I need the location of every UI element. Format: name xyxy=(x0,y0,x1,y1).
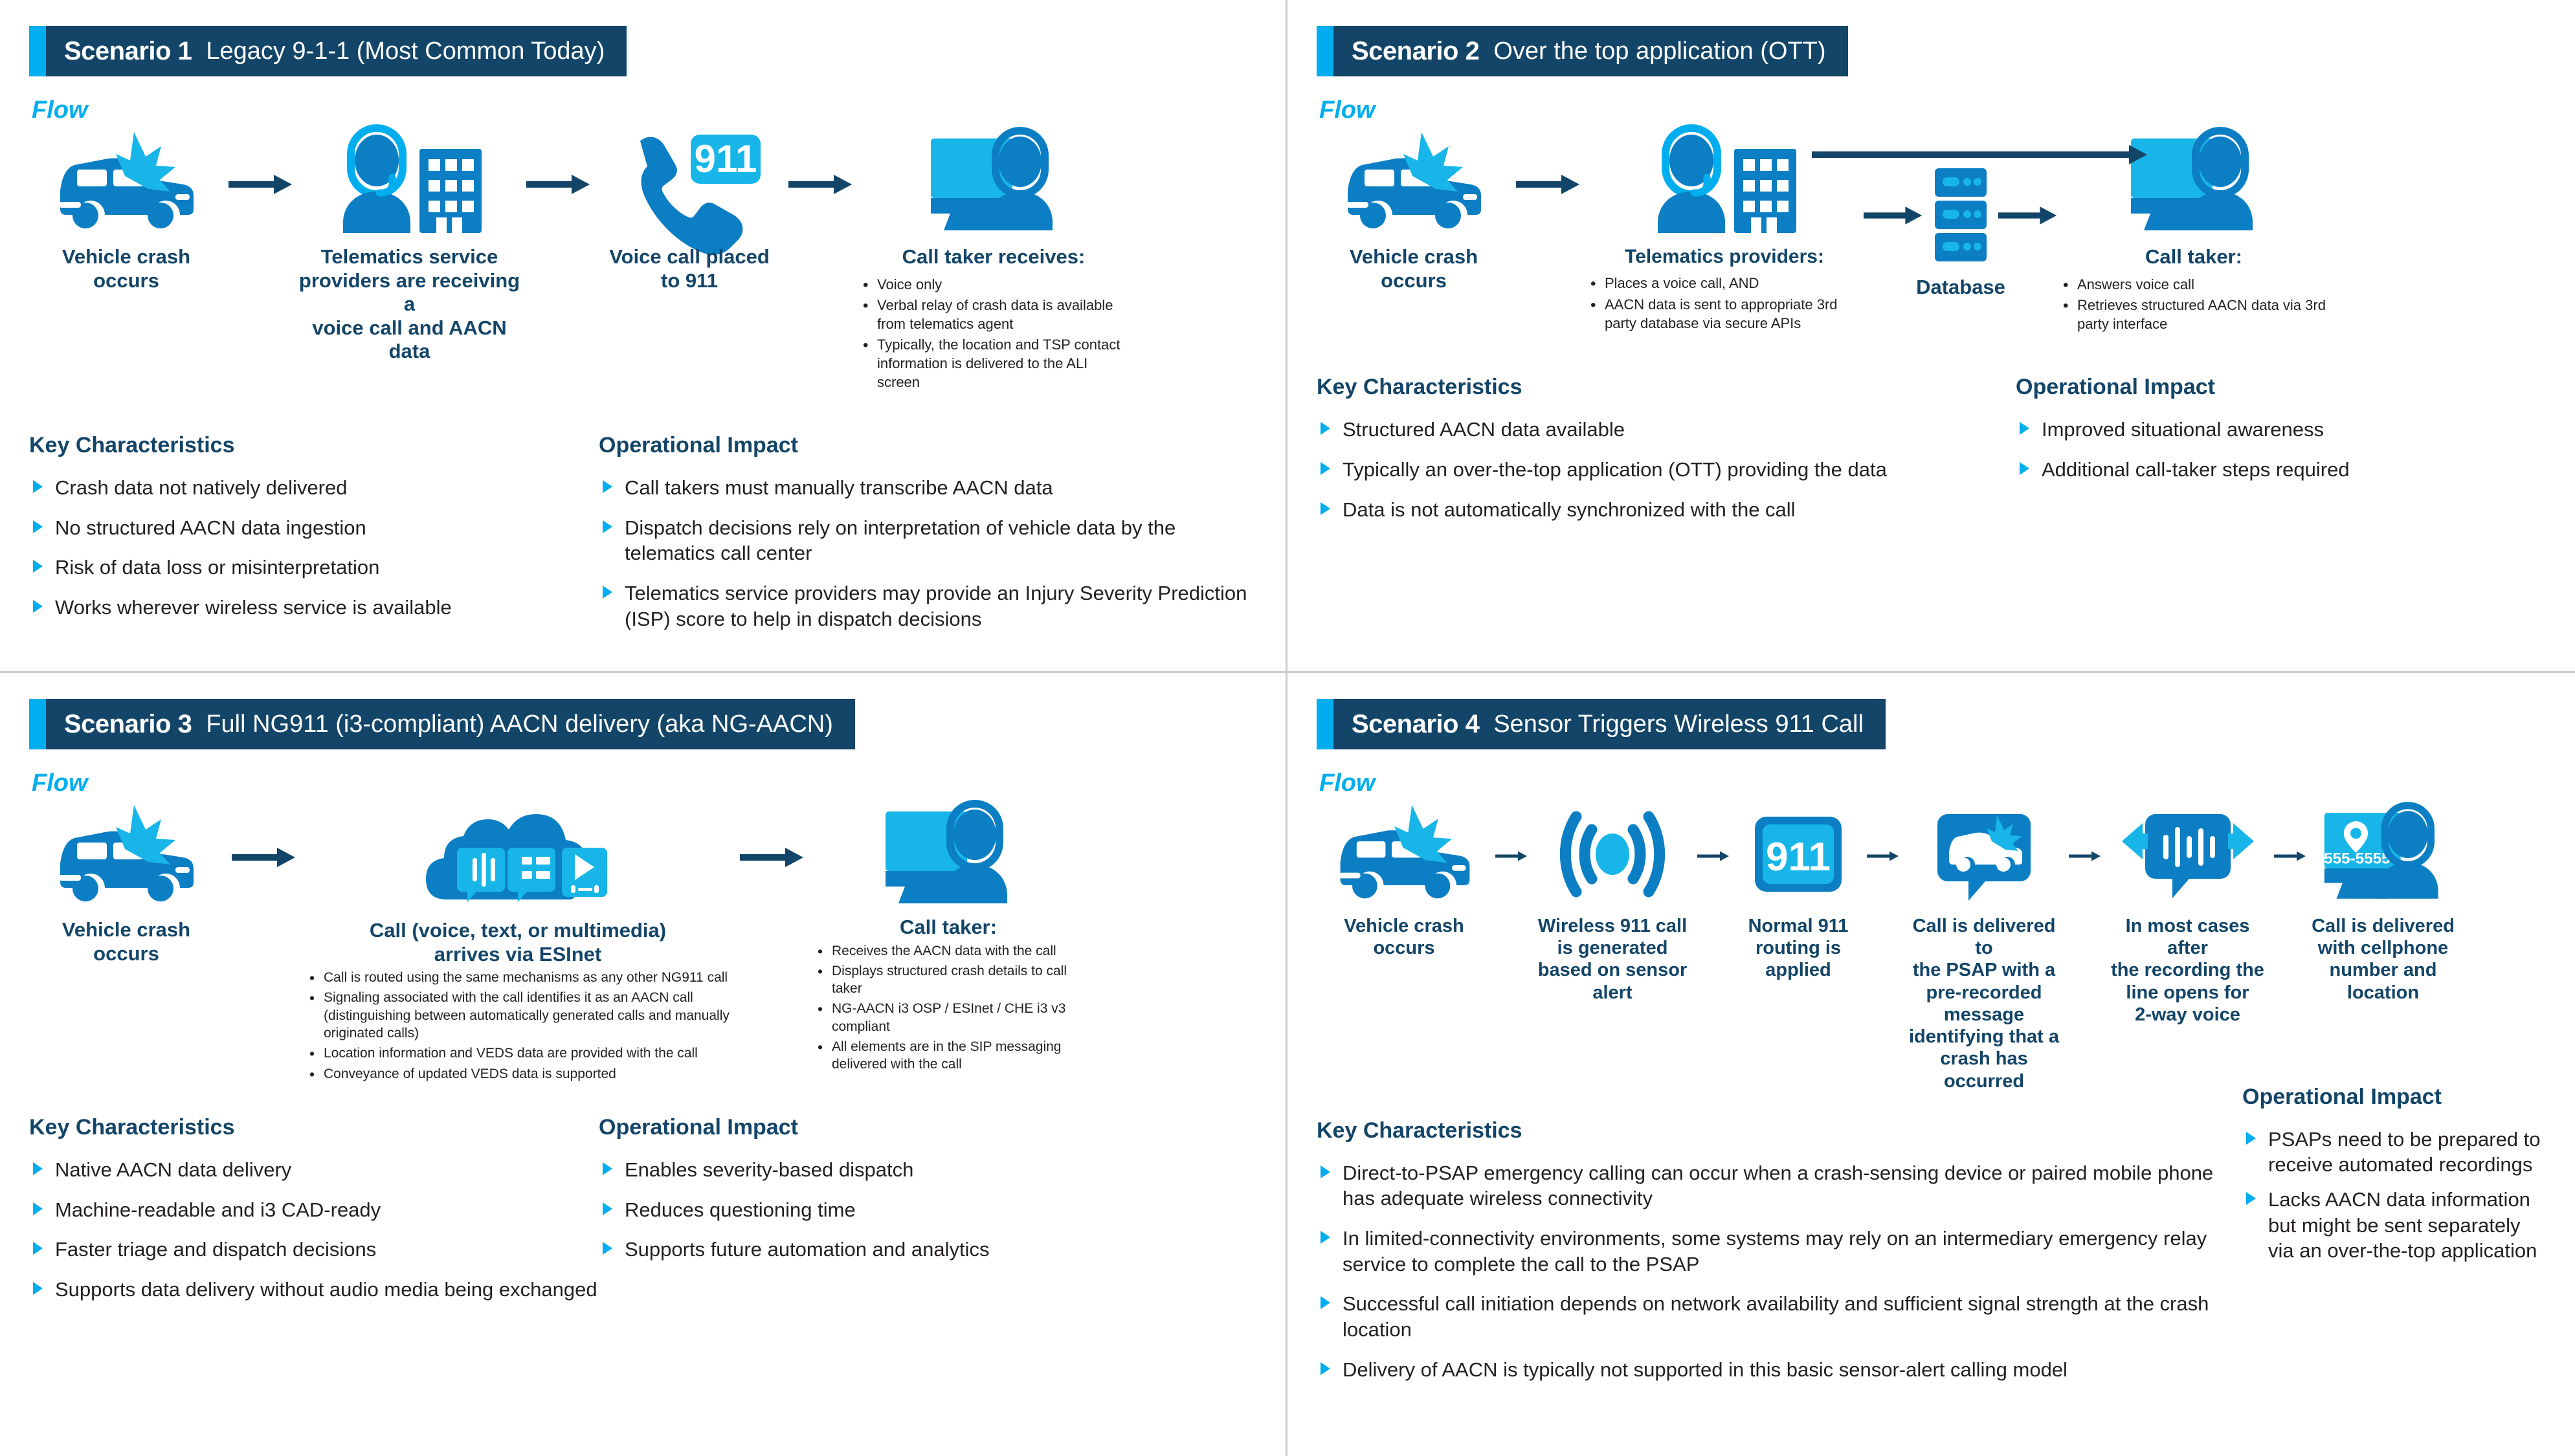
list-item: AACN data is sent to appropriate 3rd par… xyxy=(1585,296,1864,333)
operational-impact-block: Operational Impact Improved situational … xyxy=(2016,375,2546,536)
car-crash-icon xyxy=(1336,129,1491,236)
svg-text:911: 911 xyxy=(1766,835,1831,879)
flow-step-bullets: Places a voice call, AND AACN data is se… xyxy=(1585,274,1864,335)
list-item: Faster triage and dispatch decisions xyxy=(29,1237,599,1263)
accent-bar xyxy=(1317,699,1333,749)
telematics-agent-building-icon xyxy=(1644,129,1805,236)
flow-step-caption: Vehicle crashoccurs xyxy=(1344,915,1464,959)
scenario-4-panel: Scenario 4 Sensor Triggers Wireless 911 … xyxy=(1287,673,2575,1456)
list-item: Answers voice call xyxy=(2058,276,2330,294)
911-badge-icon: 911 xyxy=(1747,802,1849,906)
accent-bar xyxy=(29,26,46,76)
flow-step-caption: Database xyxy=(1916,276,2005,300)
list-item: Typically an over-the-top application (O… xyxy=(1317,457,2016,483)
scenario-2-header: Scenario 2 Over the top application (OTT… xyxy=(1317,26,1848,76)
operational-impact-list: Call takers must manually transcribe AAC… xyxy=(599,475,1256,632)
list-item: Conveyance of updated VEDS data is suppo… xyxy=(304,1065,731,1083)
scenario-2-flow: Vehicle crashoccurs xyxy=(1317,129,2546,336)
operational-impact-heading: Operational Impact xyxy=(599,1115,1256,1140)
flow-step-caption: Call is deliveredwith cellphonenumber an… xyxy=(2312,915,2455,1004)
key-characteristics-block: Key Characteristics Native AACN data del… xyxy=(29,1115,599,1317)
scenario-3-flow: Vehicle crashoccurs xyxy=(29,802,1256,1085)
list-item: In limited-connectivity environments, so… xyxy=(1317,1226,2242,1277)
flow-step-vehicle-crash: Vehicle crashoccurs xyxy=(1317,129,1511,292)
operational-impact-block: Operational Impact PSAPs need to be prep… xyxy=(2242,1085,2546,1397)
screen-phone-number: 555-5555 xyxy=(2324,850,2391,867)
flow-step-prerecorded-message: Call is delivered tothe PSAP with apre-r… xyxy=(1903,802,2065,1092)
two-way-voice-icon xyxy=(2118,802,2257,906)
operational-impact-heading: Operational Impact xyxy=(2242,1085,2546,1110)
operational-impact-block: Operational Impact Call takers must manu… xyxy=(599,433,1256,646)
flow-arrow-bypass xyxy=(1812,144,2148,166)
scenario-4-details: Key Characteristics Direct-to-PSAP emerg… xyxy=(1317,1118,2546,1397)
scenario-number: Scenario 4 xyxy=(1352,710,1479,739)
flow-arrow xyxy=(521,129,596,239)
flow-step-bullets: Answers voice call Retrieves structured … xyxy=(2058,276,2330,336)
key-characteristics-heading: Key Characteristics xyxy=(29,1115,599,1140)
scenario-4-flow: Vehicle crashoccurs xyxy=(1317,802,2546,1092)
flow-label: Flow xyxy=(1319,769,2546,797)
flow-step-caption: Voice call placedto 911 xyxy=(609,245,770,292)
list-item: Supports data delivery without audio med… xyxy=(29,1277,599,1303)
key-characteristics-block: Key Characteristics Crash data not nativ… xyxy=(29,433,599,646)
flow-step-bullets: Receives the AACN data with the call Dis… xyxy=(812,942,1084,1076)
flow-arrow xyxy=(2270,802,2310,909)
operational-impact-list: Enables severity-based dispatch Reduces … xyxy=(599,1157,1256,1263)
list-item: Machine-readable and i3 CAD-ready xyxy=(29,1197,599,1223)
list-item: Typically, the location and TSP contact … xyxy=(858,336,1130,392)
list-item: Data is not automatically synchronized w… xyxy=(1317,497,2016,523)
operational-impact-list: PSAPs need to be prepared to receive aut… xyxy=(2242,1127,2546,1264)
flow-step-caption: Call taker: xyxy=(900,916,997,940)
list-item: NG-AACN i3 OSP / ESInet / CHE i3 v3 comp… xyxy=(812,1000,1084,1035)
list-item: Works wherever wireless service is avail… xyxy=(29,595,599,621)
phone-911-icon: 911 xyxy=(612,129,767,236)
flow-step-caption: Telematics serviceproviders are receivin… xyxy=(298,245,521,364)
telematics-agent-building-icon xyxy=(329,129,491,236)
flow-step-call-taker: Call taker: Receives the AACN data with … xyxy=(812,802,1084,1076)
key-characteristics-list: Crash data not natively delivered No str… xyxy=(29,475,599,621)
list-item: Supports future automation and analytics xyxy=(599,1237,1256,1263)
flow-step-vehicle-crash: Vehicle crashoccurs xyxy=(29,129,223,292)
flow-arrow xyxy=(1693,802,1733,909)
flow-step-caption: Wireless 911 callis generatedbased on se… xyxy=(1538,915,1687,1004)
flow-step-vehicle-crash: Vehicle crashoccurs xyxy=(1317,802,1491,959)
car-crash-icon xyxy=(49,129,204,236)
list-item: Reduces questioning time xyxy=(599,1197,1256,1223)
list-item: No structured AACN data ingestion xyxy=(29,515,599,541)
flow-arrow xyxy=(1511,129,1585,239)
flow-step-database: Database xyxy=(1864,129,2058,300)
accent-bar xyxy=(1317,26,1333,76)
flow-label: Flow xyxy=(32,769,1256,797)
flow-step-vehicle-crash: Vehicle crashoccurs xyxy=(29,802,223,965)
flow-step-caption: In most cases afterthe recording theline… xyxy=(2105,915,2270,1026)
svg-text:911: 911 xyxy=(695,137,757,181)
flow-step-two-way-voice: In most cases afterthe recording theline… xyxy=(2105,802,2270,1026)
list-item: Retrieves structured AACN data via 3rd p… xyxy=(2058,296,2330,333)
list-item: Telematics service providers may provide… xyxy=(599,580,1256,632)
wireless-signal-icon xyxy=(1561,802,1664,906)
operational-impact-list: Improved situational awareness Additiona… xyxy=(2016,417,2546,482)
list-item: Call takers must manually transcribe AAC… xyxy=(599,475,1256,501)
list-item: PSAPs need to be prepared to receive aut… xyxy=(2242,1127,2546,1178)
cloud-multimedia-icon xyxy=(421,802,615,912)
flow-step-caption: Vehicle crashoccurs xyxy=(1350,245,1478,292)
operational-impact-heading: Operational Impact xyxy=(599,433,1256,458)
operational-impact-heading: Operational Impact xyxy=(2016,375,2546,400)
flow-step-bullets: Voice only Verbal relay of crash data is… xyxy=(858,276,1130,395)
flow-step-caption: Normal 911routing isapplied xyxy=(1748,915,1849,982)
list-item: Direct-to-PSAP emergency calling can occ… xyxy=(1317,1160,2242,1211)
scenario-2-details: Key Characteristics Structured AACN data… xyxy=(1317,375,2546,536)
flow-step-voice-call: 911 Voice call placedto 911 xyxy=(596,129,783,292)
list-item: Crash data not natively delivered xyxy=(29,475,599,501)
flow-arrow xyxy=(731,802,812,912)
flow-label: Flow xyxy=(32,96,1256,124)
scenario-number: Scenario 2 xyxy=(1352,37,1479,66)
flow-step-caption: Call taker: xyxy=(2145,245,2242,269)
flow-step-caption: Call is delivered tothe PSAP with apre-r… xyxy=(1903,915,2065,1092)
scenario-title: Legacy 9-1-1 (Most Common Today) xyxy=(206,38,605,65)
key-characteristics-heading: Key Characteristics xyxy=(1317,375,2016,400)
flow-arrow xyxy=(223,129,298,239)
list-item: Voice only xyxy=(858,276,1130,294)
key-characteristics-list: Native AACN data delivery Machine-readab… xyxy=(29,1157,599,1303)
scenario-title: Full NG911 (i3-compliant) AACN delivery … xyxy=(206,711,833,738)
scenario-2-panel: Scenario 2 Over the top application (OTT… xyxy=(1287,0,2575,673)
list-item: Signaling associated with the call ident… xyxy=(304,989,731,1042)
scenario-1-panel: Scenario 1 Legacy 9-1-1 (Most Common Tod… xyxy=(0,0,1287,673)
crash-message-bubble-icon xyxy=(1932,802,2036,906)
scenario-1-header: Scenario 1 Legacy 9-1-1 (Most Common Tod… xyxy=(29,26,627,76)
list-item: Delivery of AACN is typically not suppor… xyxy=(1317,1357,2242,1383)
flow-step-caption: Call taker receives: xyxy=(902,245,1086,269)
database-icon xyxy=(1930,167,1992,264)
flow-step-call-delivered: 555-5555 Call is deliveredwith cellphone… xyxy=(2310,802,2456,1004)
flow-step-caption: Call (voice, text, or multimedia)arrives… xyxy=(370,919,666,966)
key-characteristics-list: Direct-to-PSAP emergency calling can occ… xyxy=(1317,1160,2242,1383)
flow-arrow xyxy=(783,129,858,239)
infographic-page: Scenario 1 Legacy 9-1-1 (Most Common Tod… xyxy=(0,0,2575,1456)
list-item: Enables severity-based dispatch xyxy=(599,1157,1256,1183)
flow-label: Flow xyxy=(1319,96,2546,124)
flow-step-caption: Vehicle crashoccurs xyxy=(62,245,190,292)
flow-step-caption: Vehicle crashoccurs xyxy=(62,918,190,965)
list-item: Native AACN data delivery xyxy=(29,1157,599,1183)
list-item: Improved situational awareness xyxy=(2016,417,2546,443)
list-item: Places a voice call, AND xyxy=(1585,274,1864,293)
list-item: Receives the AACN data with the call xyxy=(812,942,1084,960)
list-item: All elements are in the SIP messaging de… xyxy=(812,1038,1084,1074)
list-item: Additional call-taker steps required xyxy=(2016,457,2546,483)
list-item: Dispatch decisions rely on interpretatio… xyxy=(599,515,1256,566)
flow-arrow xyxy=(1863,802,1903,909)
scenario-1-details: Key Characteristics Crash data not nativ… xyxy=(29,433,1256,646)
scenario-title: Sensor Triggers Wireless 911 Call xyxy=(1493,711,1864,738)
call-taker-monitor-icon xyxy=(874,802,1023,909)
flow-step-esinet-cloud: Call (voice, text, or multimedia)arrives… xyxy=(304,802,731,1085)
call-taker-location-icon: 555-5555 xyxy=(2313,802,2453,906)
car-crash-icon xyxy=(1328,802,1480,906)
scenario-4-header: Scenario 4 Sensor Triggers Wireless 911 … xyxy=(1317,699,1886,749)
key-characteristics-block: Key Characteristics Structured AACN data… xyxy=(1317,375,2016,536)
scenario-number: Scenario 1 xyxy=(64,37,192,66)
scenario-1-flow: Vehicle crashoccurs xyxy=(29,129,1256,394)
list-item: Verbal relay of crash data is available … xyxy=(858,296,1130,333)
flow-arrow xyxy=(223,802,304,912)
flow-arrow xyxy=(2065,802,2105,909)
list-item: Risk of data loss or misinterpretation xyxy=(29,555,599,580)
flow-step-wireless-call: Wireless 911 callis generatedbased on se… xyxy=(1532,802,1693,1004)
flow-step-call-taker: Call taker receives: Voice only Verbal r… xyxy=(858,129,1130,394)
key-characteristics-heading: Key Characteristics xyxy=(1317,1118,2242,1143)
flow-arrow xyxy=(1998,204,2058,226)
flow-step-caption: Telematics providers: xyxy=(1625,245,1824,268)
list-item: Successful call initiation depends on ne… xyxy=(1317,1291,2242,1342)
scenario-number: Scenario 3 xyxy=(64,710,192,739)
list-item: Structured AACN data available xyxy=(1317,417,2016,443)
list-item: Displays structured crash details to cal… xyxy=(812,962,1084,998)
scenario-3-header: Scenario 3 Full NG911 (i3-compliant) AAC… xyxy=(29,699,855,749)
scenario-3-panel: Scenario 3 Full NG911 (i3-compliant) AAC… xyxy=(0,673,1287,1456)
car-crash-icon xyxy=(49,802,204,909)
key-characteristics-block: Key Characteristics Direct-to-PSAP emerg… xyxy=(1317,1118,2242,1397)
call-taker-monitor-icon xyxy=(919,129,1068,236)
operational-impact-block: Operational Impact Enables severity-base… xyxy=(599,1115,1256,1317)
scenario-3-details: Key Characteristics Native AACN data del… xyxy=(29,1115,1256,1317)
list-item: Lacks AACN data information but might be… xyxy=(2242,1187,2546,1264)
list-item: Location information and VEDS data are p… xyxy=(304,1044,731,1062)
flow-step-911-routing: 911 Normal 911routing isapplied xyxy=(1733,802,1863,982)
flow-step-bullets: Call is routed using the same mechanisms… xyxy=(304,969,731,1085)
scenario-title: Over the top application (OTT) xyxy=(1493,38,1825,65)
flow-arrow xyxy=(1864,204,1923,226)
key-characteristics-list: Structured AACN data available Typically… xyxy=(1317,417,2016,522)
list-item: Call is routed using the same mechanisms… xyxy=(304,969,731,986)
flow-arrow xyxy=(1491,802,1532,909)
flow-step-telematics: Telematics serviceproviders are receivin… xyxy=(298,129,521,364)
accent-bar xyxy=(29,699,46,749)
key-characteristics-heading: Key Characteristics xyxy=(29,433,599,458)
